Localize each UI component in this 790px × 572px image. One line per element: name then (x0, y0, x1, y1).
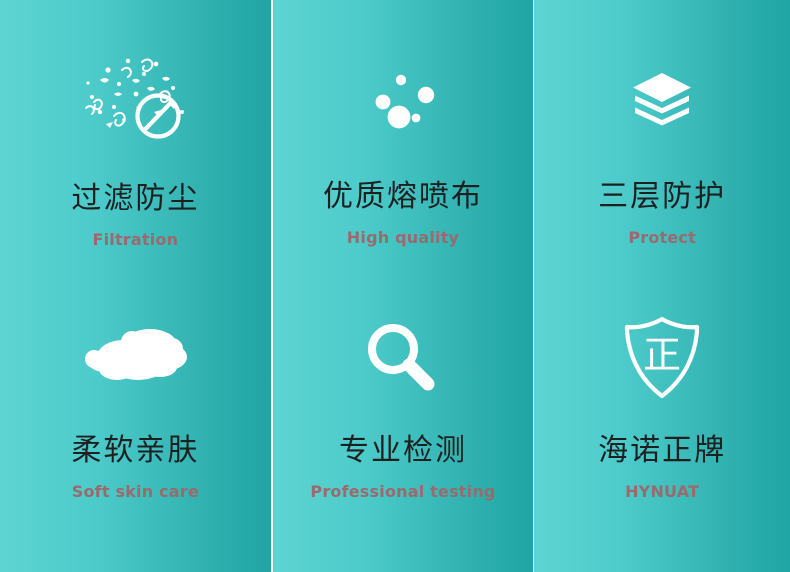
cloud-icon (50, 306, 220, 410)
feature-card-high-quality: 优质熔喷布 High quality (273, 0, 534, 286)
feature-title: 海诺正牌 (598, 436, 726, 466)
feature-title: 优质熔喷布 (323, 182, 483, 212)
feature-title: 过滤防尘 (71, 184, 199, 214)
feature-title: 三层防护 (598, 182, 726, 212)
feature-title: 专业检测 (339, 436, 467, 466)
no-entry-symbol (138, 96, 179, 137)
feature-subtitle: HYNUAT (625, 484, 699, 500)
feature-column-3: 三层防护 Protect 正 海诺正牌 HYNUAT (534, 0, 790, 572)
meltblown-bubbles-icon (318, 48, 488, 152)
shield-character: 正 (643, 333, 681, 377)
feature-column-2: 优质熔喷布 High quality 专业检测 Professional tes… (273, 0, 534, 572)
feature-subtitle: Soft skin care (72, 484, 199, 500)
feature-column-1: 过滤防尘 Filtration (0, 0, 271, 572)
column-divider-1 (271, 0, 272, 572)
feature-card-soft-skin-care: 柔软亲肤 Soft skin care (0, 286, 271, 572)
shield-zheng-icon: 正 (577, 306, 747, 410)
feature-subtitle: Protect (628, 230, 696, 246)
feature-card-professional-testing: 专业检测 Professional testing (273, 286, 534, 572)
magnifier-icon (318, 306, 488, 410)
feature-card-hynuat-brand: 正 海诺正牌 HYNUAT (534, 286, 790, 572)
three-layers-icon (577, 48, 747, 152)
feature-subtitle: Professional testing (310, 484, 495, 500)
feature-card-filtration: 过滤防尘 Filtration (0, 0, 271, 286)
feature-title: 柔软亲肤 (71, 436, 199, 466)
product-feature-banner: 过滤防尘 Filtration (0, 0, 790, 572)
dust-blocked-icon (50, 48, 220, 152)
feature-subtitle: Filtration (92, 232, 178, 248)
feature-subtitle: High quality (347, 230, 459, 246)
feature-card-protect: 三层防护 Protect (534, 0, 790, 286)
